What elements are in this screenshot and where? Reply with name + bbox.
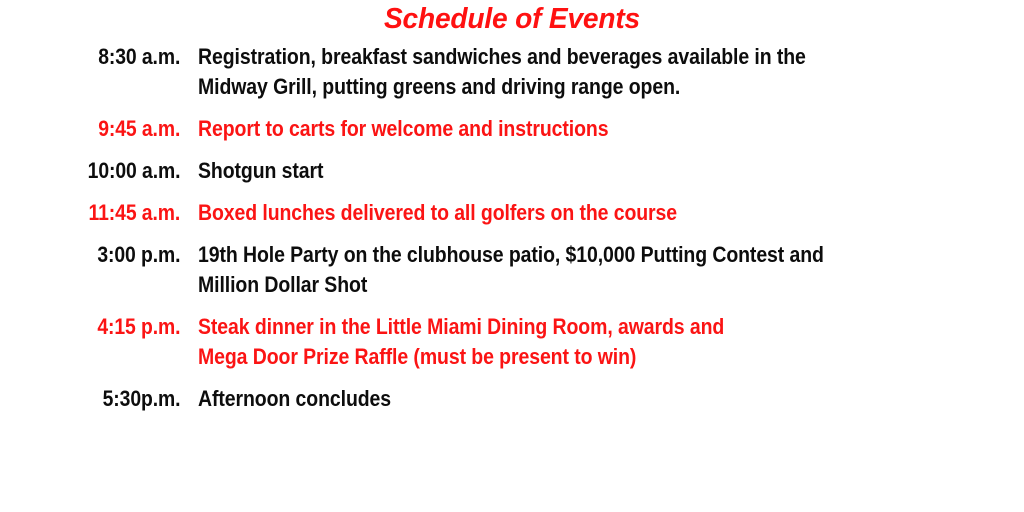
schedule-row-time: 3:00 p.m. [0, 240, 180, 270]
schedule-row-description-line: Report to carts for welcome and instruct… [198, 114, 1024, 144]
schedule-row-description-text: Shotgun start [198, 156, 323, 186]
schedule-row-description-line: Million Dollar Shot [198, 270, 1024, 300]
schedule-row-time-text: 4:15 p.m. [97, 312, 180, 342]
schedule-row-description-text: Mega Door Prize Raffle (must be present … [198, 342, 636, 372]
schedule-row-description-line: Shotgun start [198, 156, 1024, 186]
schedule-row-description-line: Steak dinner in the Little Miami Dining … [198, 312, 1024, 342]
schedule-row-time-text: 8:30 a.m. [98, 42, 180, 72]
schedule-row-description: Shotgun start [180, 156, 1024, 186]
page-title-text: Schedule of Events [384, 2, 640, 36]
schedule-row-description: 19th Hole Party on the clubhouse patio, … [180, 240, 1024, 300]
schedule-row: 8:30 a.m.Registration, breakfast sandwic… [0, 42, 1024, 102]
schedule-row: 5:30p.m.Afternoon concludes [0, 384, 1024, 414]
schedule-row-description: Boxed lunches delivered to all golfers o… [180, 198, 1024, 228]
schedule-row: 9:45 a.m.Report to carts for welcome and… [0, 114, 1024, 144]
schedule-row-description-text: Afternoon concludes [198, 384, 391, 414]
schedule-row-description: Afternoon concludes [180, 384, 1024, 414]
schedule-row-time: 4:15 p.m. [0, 312, 180, 342]
schedule-row-description-text: Report to carts for welcome and instruct… [198, 114, 608, 144]
schedule-row-description-text: Boxed lunches delivered to all golfers o… [198, 198, 677, 228]
schedule-row-time-text: 3:00 p.m. [97, 240, 180, 270]
schedule-row-description-line: Boxed lunches delivered to all golfers o… [198, 198, 1024, 228]
schedule-row: 3:00 p.m.19th Hole Party on the clubhous… [0, 240, 1024, 300]
schedule-row-description-text: Million Dollar Shot [198, 270, 367, 300]
schedule-row-description-text: Midway Grill, putting greens and driving… [198, 72, 680, 102]
schedule-row-time-text: 11:45 a.m. [88, 198, 180, 228]
schedule-row-description-line: Midway Grill, putting greens and driving… [198, 72, 1024, 102]
schedule-row-description: Registration, breakfast sandwiches and b… [180, 42, 1024, 102]
schedule-row-time-text: 10:00 a.m. [87, 156, 180, 186]
page-title: Schedule of Events [0, 2, 1024, 36]
schedule-row-description-line: Mega Door Prize Raffle (must be present … [198, 342, 1024, 372]
schedule-row-description-line: Afternoon concludes [198, 384, 1024, 414]
schedule-row-time: 5:30p.m. [0, 384, 180, 414]
schedule-row-description-text: Registration, breakfast sandwiches and b… [198, 42, 806, 72]
schedule-row-description-text: 19th Hole Party on the clubhouse patio, … [198, 240, 824, 270]
schedule-row-description-text: Steak dinner in the Little Miami Dining … [198, 312, 724, 342]
schedule-row-time: 10:00 a.m. [0, 156, 180, 186]
schedule-row: 4:15 p.m.Steak dinner in the Little Miam… [0, 312, 1024, 372]
schedule-row-time-text: 5:30p.m. [102, 384, 180, 414]
schedule-row: 11:45 a.m.Boxed lunches delivered to all… [0, 198, 1024, 228]
schedule-row: 10:00 a.m.Shotgun start [0, 156, 1024, 186]
schedule-row-description-line: 19th Hole Party on the clubhouse patio, … [198, 240, 1024, 270]
schedule-document: Schedule of Events 8:30 a.m.Registration… [0, 0, 1024, 512]
schedule-row-time: 8:30 a.m. [0, 42, 180, 72]
schedule-row-time-text: 9:45 a.m. [98, 114, 180, 144]
schedule-row-description: Steak dinner in the Little Miami Dining … [180, 312, 1024, 372]
schedule-list: 8:30 a.m.Registration, breakfast sandwic… [0, 42, 1024, 426]
schedule-row-description: Report to carts for welcome and instruct… [180, 114, 1024, 144]
schedule-row-time: 9:45 a.m. [0, 114, 180, 144]
schedule-row-time: 11:45 a.m. [0, 198, 180, 228]
schedule-row-description-line: Registration, breakfast sandwiches and b… [198, 42, 1024, 72]
